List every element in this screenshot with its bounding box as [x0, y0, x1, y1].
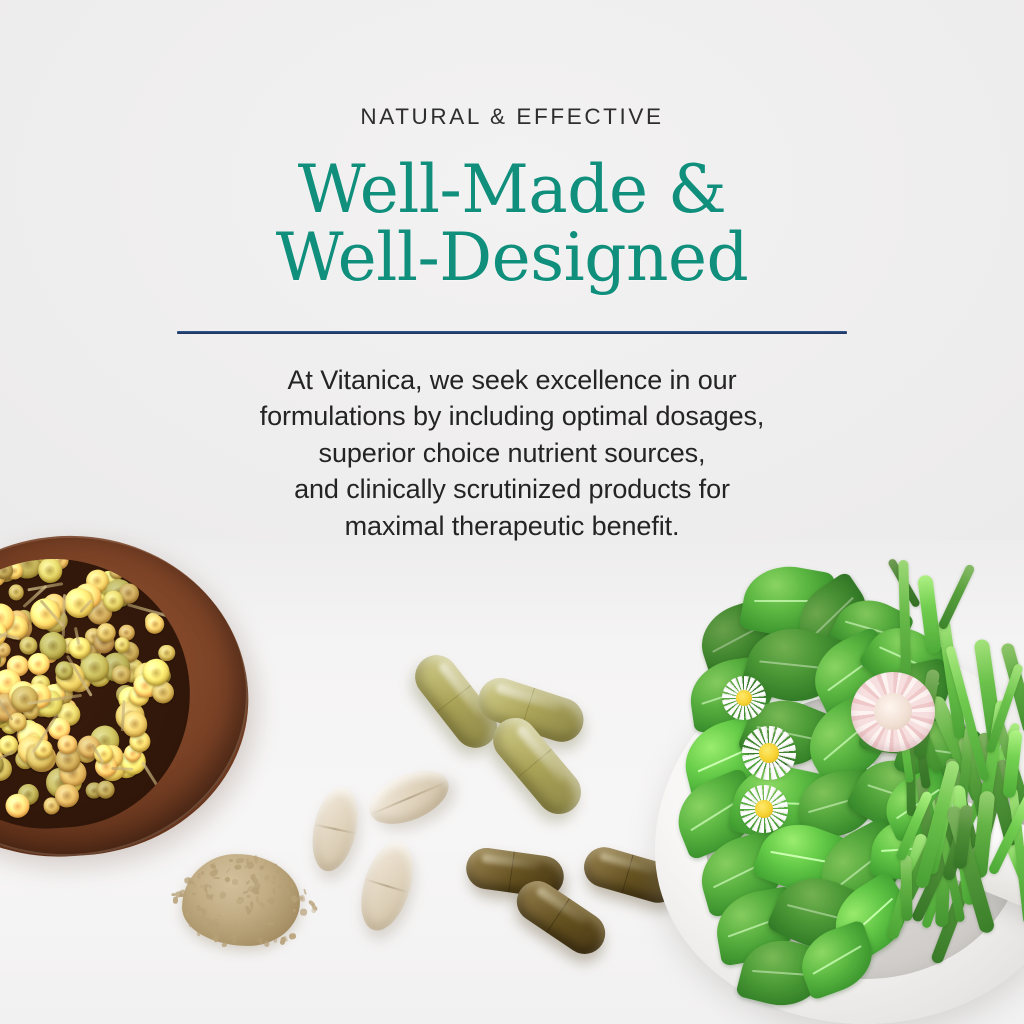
- body-line-2: formulations by including optimal dosage…: [0, 398, 1024, 435]
- daisy-flower: [740, 785, 788, 833]
- daisy-center: [755, 800, 772, 817]
- body-line-1: At Vitanica, we seek excellence in our: [0, 362, 1024, 399]
- daisy-center: [759, 743, 778, 762]
- leaf-vein: [770, 850, 830, 862]
- eyebrow-text: NATURAL & EFFECTIVE: [0, 106, 1024, 129]
- daisy-center: [736, 690, 752, 706]
- pink-flower: [851, 672, 935, 752]
- headline-line-2: Well-Designed: [0, 226, 1024, 291]
- leaf-vein: [812, 945, 861, 974]
- body-line-5: maximal therapeutic benefit.: [0, 508, 1024, 545]
- horizontal-rule: [177, 331, 847, 334]
- body-line-3: superior choice nutrient sources,: [0, 435, 1024, 472]
- daisy-flower: [722, 676, 766, 720]
- divider: [0, 321, 1024, 339]
- body-copy: At Vitanica, we seek excellence in our f…: [0, 362, 1024, 545]
- rosemary-sprig: [900, 855, 912, 922]
- body-line-4: and clinically scrutinized products for: [0, 471, 1024, 508]
- page-title: Well-Made & Well-Designed: [0, 158, 1024, 291]
- rosemary-sprig: [937, 564, 976, 631]
- daisy-flower: [742, 726, 796, 780]
- pink-flower-center: [874, 693, 913, 730]
- headline-line-1: Well-Made &: [298, 151, 727, 228]
- promotional-banner: NATURAL & EFFECTIVE Well-Made & Well-Des…: [0, 0, 1024, 1024]
- headline-block: NATURAL & EFFECTIVE Well-Made & Well-Des…: [0, 0, 1024, 544]
